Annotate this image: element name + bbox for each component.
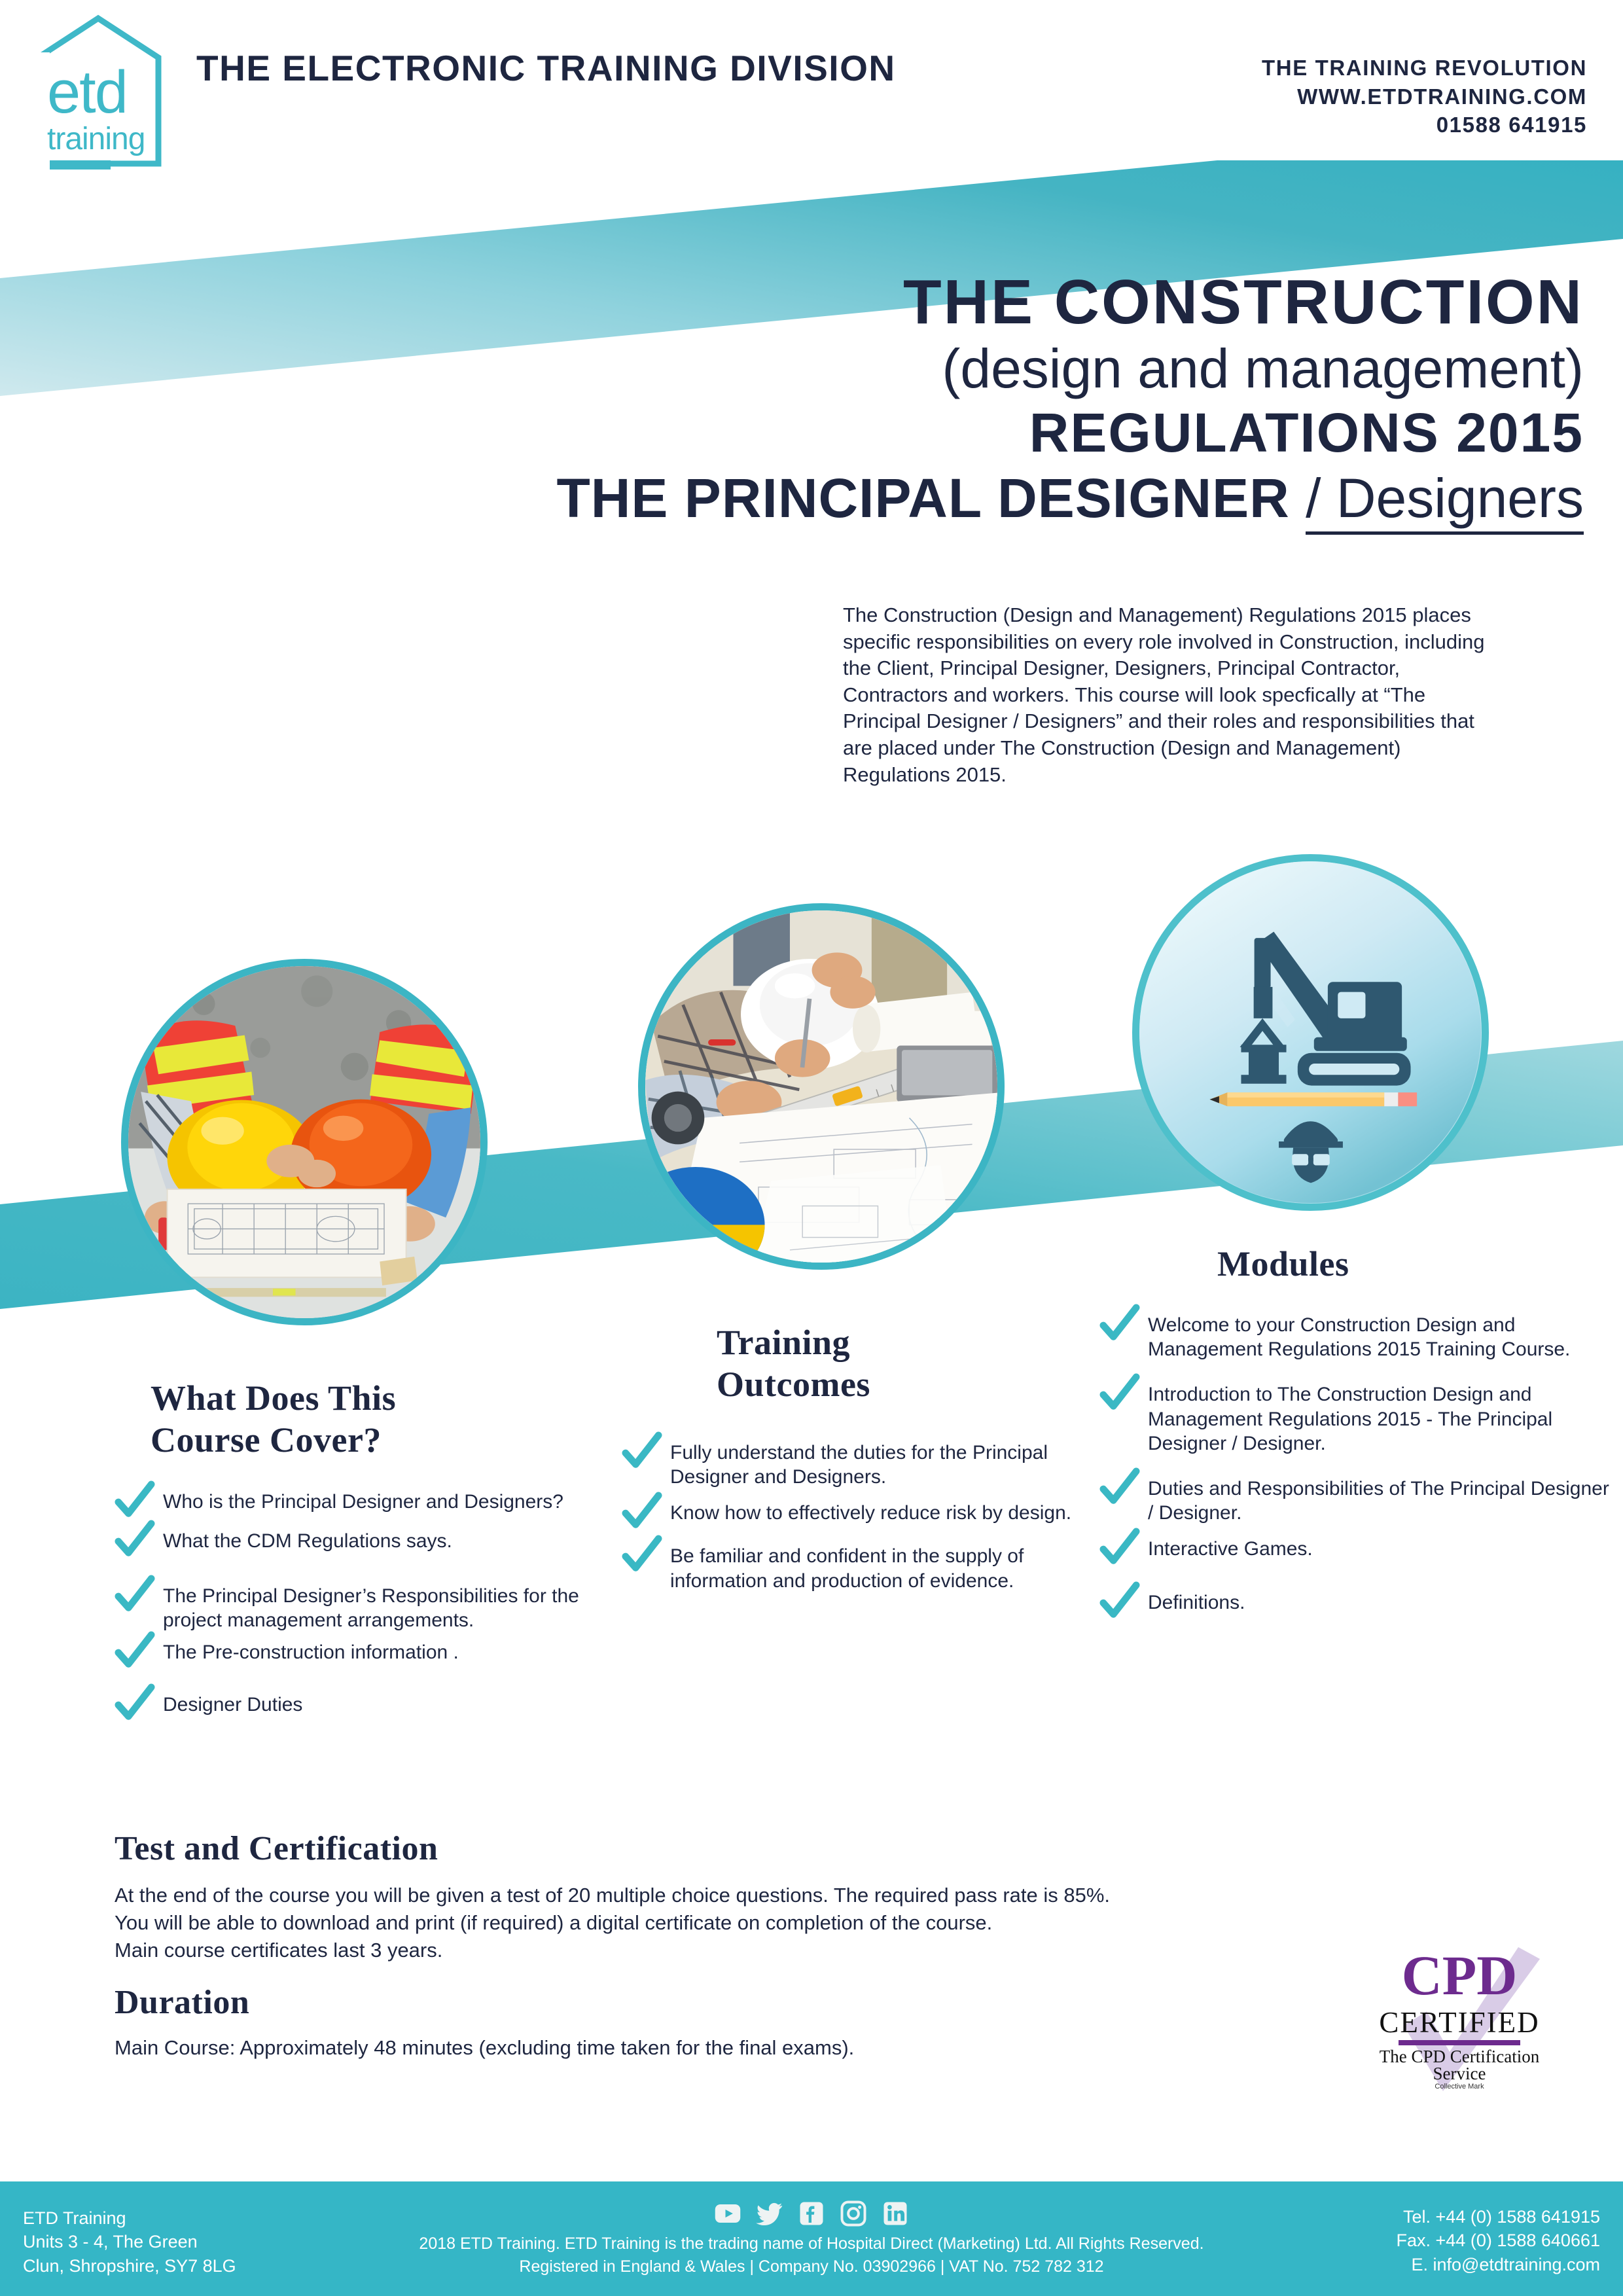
check-icon [115, 1683, 160, 1724]
title-line-4-bold: THE PRINCIPAL DESIGNER [556, 467, 1289, 529]
check-icon [115, 1631, 160, 1672]
test-certification-body: At the end of the course you will be giv… [115, 1882, 1378, 1964]
check-icon [1099, 1373, 1145, 1414]
header-website[interactable]: WWW.ETDTRAINING.COM [1262, 82, 1587, 111]
list-item: Definitions. [1099, 1587, 1616, 1622]
footer-center: 2018 ETD Training. ETD Training is the t… [321, 2200, 1302, 2278]
twitter-icon[interactable] [756, 2200, 783, 2227]
list-item: Duties and Responsibilities of The Princ… [1099, 1473, 1616, 1525]
photo-circle-workers-blueprint [121, 959, 488, 1325]
list-item: Fully understand the duties for the Prin… [622, 1437, 1080, 1489]
workers-blueprint-illustration [128, 966, 480, 1318]
section-heading-test-certification: Test and Certification [115, 1829, 438, 1868]
footer-social-links [321, 2200, 1302, 2227]
brand-title: THE ELECTRONIC TRAINING DIVISION [196, 47, 896, 89]
modules-list: Welcome to your Construction Design and … [1099, 1309, 1616, 1630]
page-title: THE CONSTRUCTION (design and management)… [471, 268, 1584, 529]
list-item-label: Introduction to The Construction Design … [1148, 1378, 1616, 1456]
title-line-3: REGULATIONS 2015 [471, 402, 1584, 463]
check-icon [115, 1520, 160, 1560]
list-item: Designer Duties [115, 1689, 632, 1724]
duration-body: Main Course: Approximately 48 minutes (e… [115, 2034, 1227, 2062]
drafting-illustration [645, 910, 997, 1263]
svg-text:CPD: CPD [1402, 1944, 1518, 2007]
header-phone[interactable]: 01588 641915 [1262, 111, 1587, 139]
footer-contact: Tel. +44 (0) 1588 641915 Fax. +44 (0) 15… [1397, 2205, 1600, 2276]
course-cover-heading-line2: Course Cover? [151, 1420, 609, 1462]
list-item: Welcome to your Construction Design and … [1099, 1309, 1616, 1361]
course-cover-heading-line1: What Does This [151, 1378, 609, 1420]
list-item-label: Interactive Games. [1148, 1533, 1313, 1561]
duration-line-1: Main Course: Approximately 48 minutes (e… [115, 2034, 1227, 2062]
section-heading-modules: Modules [1217, 1244, 1499, 1285]
etd-house-logo-icon: etd training [26, 13, 177, 177]
check-icon [1099, 1467, 1145, 1508]
training-outcomes-heading-line1: Training [717, 1322, 1044, 1364]
section-heading-training-outcomes: Training Outcomes [717, 1322, 1044, 1405]
check-icon [115, 1575, 160, 1615]
svg-text:Service: Service [1433, 2064, 1486, 2083]
check-icon [622, 1431, 668, 1472]
check-icon [622, 1535, 668, 1575]
course-cover-list: Who is the Principal Designer and Design… [115, 1486, 632, 1728]
instagram-icon[interactable] [840, 2200, 867, 2227]
svg-text:CERTIFIED: CERTIFIED [1379, 2006, 1539, 2039]
section-heading-course-cover: What Does This Course Cover? [151, 1378, 609, 1461]
footer-address-line-2: Units 3 - 4, The Green [23, 2230, 236, 2253]
list-item: Introduction to The Construction Design … [1099, 1378, 1616, 1456]
page-header: etd training THE ELECTRONIC TRAINING DIV… [0, 0, 1623, 196]
footer-address-line-3: Clun, Shropshire, SY7 8LG [23, 2254, 236, 2278]
section-heading-duration: Duration [115, 1983, 249, 2022]
test-line-2: You will be able to download and print (… [115, 1909, 1378, 1937]
list-item: The Pre-construction information . [115, 1636, 632, 1672]
check-icon [115, 1480, 160, 1521]
list-item: Know how to effectively reduce risk by d… [622, 1497, 1080, 1532]
test-line-1: At the end of the course you will be giv… [115, 1882, 1378, 1909]
cpd-certified-logo: CPD CERTIFIED The CPD Certification Serv… [1364, 1928, 1554, 2091]
list-item-label: The Pre-construction information . [163, 1636, 459, 1664]
footer-telephone: Tel. +44 (0) 1588 641915 [1397, 2205, 1600, 2229]
list-item-label: Welcome to your Construction Design and … [1148, 1309, 1616, 1361]
footer-fax: Fax. +44 (0) 1588 640661 [1397, 2229, 1600, 2252]
footer-copyright: 2018 ETD Training. ETD Training is the t… [321, 2233, 1302, 2278]
list-item-label: Who is the Principal Designer and Design… [163, 1486, 563, 1514]
icon-circle-crane [1132, 854, 1489, 1211]
pencil-glyph [1209, 1092, 1417, 1106]
footer-address-line-1: ETD Training [23, 2206, 236, 2230]
linkedin-icon[interactable] [882, 2200, 909, 2227]
check-icon [622, 1492, 668, 1532]
test-line-3: Main course certificates last 3 years. [115, 1937, 1378, 1964]
crane-pencil-worker-icon [1139, 861, 1482, 1204]
title-line-4-sub: / Designers [1306, 467, 1584, 535]
youtube-icon[interactable] [714, 2200, 741, 2227]
list-item-label: Know how to effectively reduce risk by d… [670, 1497, 1071, 1525]
svg-text:Collective Mark: Collective Mark [1435, 2083, 1484, 2090]
facebook-icon[interactable] [798, 2200, 825, 2227]
footer-address: ETD Training Units 3 - 4, The Green Clun… [23, 2206, 236, 2278]
poster-page: etd training THE ELECTRONIC TRAINING DIV… [0, 0, 1623, 2296]
list-item-label: Be familiar and confident in the supply … [670, 1540, 1080, 1592]
list-item-label: Definitions. [1148, 1587, 1245, 1615]
intro-paragraph: The Construction (Design and Management)… [843, 602, 1504, 788]
svg-text:training: training [47, 122, 145, 156]
page-footer: ETD Training Units 3 - 4, The Green Clun… [0, 2181, 1623, 2296]
svg-text:etd: etd [47, 59, 127, 126]
title-line-1: THE CONSTRUCTION [471, 268, 1584, 336]
list-item-label: What the CDM Regulations says. [163, 1525, 452, 1553]
header-tagline: THE TRAINING REVOLUTION [1262, 54, 1587, 82]
list-item-label: Designer Duties [163, 1689, 302, 1717]
check-icon [1099, 1304, 1145, 1344]
header-contact-block: THE TRAINING REVOLUTION WWW.ETDTRAINING.… [1262, 54, 1587, 139]
title-line-4: THE PRINCIPAL DESIGNER / Designers [471, 467, 1584, 529]
list-item: Be familiar and confident in the supply … [622, 1540, 1080, 1592]
footer-email[interactable]: E. info@etdtraining.com [1397, 2253, 1600, 2276]
check-icon [1099, 1581, 1145, 1622]
list-item-label: The Principal Designer’s Responsibilitie… [163, 1580, 632, 1632]
list-item: What the CDM Regulations says. [115, 1525, 632, 1560]
list-item-label: Duties and Responsibilities of The Princ… [1148, 1473, 1616, 1525]
training-outcomes-heading-line2: Outcomes [717, 1364, 1044, 1406]
list-item: Interactive Games. [1099, 1533, 1616, 1568]
list-item-label: Fully understand the duties for the Prin… [670, 1437, 1080, 1489]
training-outcomes-list: Fully understand the duties for the Prin… [622, 1437, 1080, 1601]
list-item: Who is the Principal Designer and Design… [115, 1486, 632, 1521]
footer-copyright-line-1: 2018 ETD Training. ETD Training is the t… [321, 2233, 1302, 2255]
footer-copyright-line-2: Registered in England & Wales | Company … [321, 2255, 1302, 2278]
etd-logo[interactable]: etd training [26, 13, 177, 177]
cpd-logo-icon: CPD CERTIFIED The CPD Certification Serv… [1364, 1928, 1554, 2091]
check-icon [1099, 1528, 1145, 1568]
photo-circle-drafting [638, 903, 1005, 1270]
list-item: The Principal Designer’s Responsibilitie… [115, 1580, 632, 1632]
title-line-2: (design and management) [471, 338, 1584, 399]
